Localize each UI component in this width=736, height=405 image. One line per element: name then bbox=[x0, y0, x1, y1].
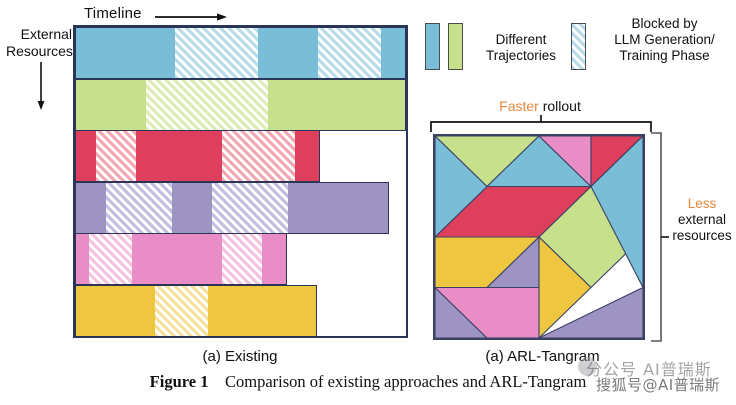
tangram-svg bbox=[435, 136, 643, 338]
legend: Different Trajectories Blocked by LLM Ge… bbox=[425, 10, 736, 82]
figure-caption-text: Comparison of existing approaches and AR… bbox=[225, 372, 586, 391]
figure-caption-label: Figure 1 bbox=[150, 372, 209, 391]
blocked-segment-6-2 bbox=[155, 286, 208, 336]
external-resources-line1: External bbox=[6, 26, 72, 43]
blocked-segment-4-4 bbox=[212, 183, 288, 233]
blocked-segment-1-4 bbox=[318, 28, 381, 78]
legend-swatch-blocked bbox=[571, 23, 586, 70]
legend-traj-line1: Different bbox=[473, 32, 569, 48]
tangram-diagram bbox=[433, 134, 645, 340]
blocked-segment-3-2 bbox=[96, 131, 136, 181]
figure-root: Timeline External Resources Different Tr… bbox=[0, 0, 736, 405]
less-rest-line2: resources bbox=[668, 228, 736, 244]
external-resources-line2: Resources bbox=[6, 43, 72, 60]
legend-blocked-line1: Blocked by bbox=[593, 16, 736, 32]
figure-caption: Figure 1 Comparison of existing approach… bbox=[0, 372, 736, 392]
blocked-segment-1-2 bbox=[175, 28, 258, 78]
timeline-bar-3 bbox=[75, 130, 320, 182]
top-bracket-icon bbox=[428, 115, 654, 133]
subcaption-tangram: (a) ARL-Tangram bbox=[450, 348, 635, 365]
timeline-bar-4 bbox=[75, 182, 389, 234]
legend-blocked-line2: LLM Generation/ bbox=[593, 32, 736, 48]
timeline-chart bbox=[73, 25, 408, 338]
less-rest-line1: external bbox=[668, 212, 736, 228]
legend-traj-line2: Trajectories bbox=[473, 48, 569, 64]
resources-arrow-icon bbox=[36, 62, 46, 110]
timeline-bar-5 bbox=[75, 233, 287, 285]
blocked-segment-2-2 bbox=[146, 80, 268, 130]
faster-rollout-label: Faster rollout bbox=[440, 98, 640, 114]
legend-swatch-green bbox=[448, 23, 463, 70]
blocked-segment-5-4 bbox=[222, 234, 262, 284]
blocked-segment-5-2 bbox=[89, 234, 132, 284]
timeline-arrow-icon bbox=[155, 12, 227, 22]
timeline-bar-2 bbox=[75, 79, 406, 131]
legend-blocked-line3: Training Phase bbox=[593, 48, 736, 64]
subcaption-existing: (a) Existing bbox=[150, 348, 330, 365]
external-resources-label: External Resources bbox=[6, 26, 72, 60]
faster-rest-text: rollout bbox=[543, 98, 581, 114]
blocked-segment-3-4 bbox=[222, 131, 295, 181]
blocked-segment-4-2 bbox=[106, 183, 172, 233]
legend-label-trajectories: Different Trajectories bbox=[473, 32, 569, 64]
right-bracket-icon bbox=[648, 130, 670, 344]
less-external-resources-label: Less external resources bbox=[668, 196, 736, 244]
faster-accent-text: Faster bbox=[499, 98, 539, 114]
timeline-bar-6 bbox=[75, 285, 317, 337]
timeline-bar-1 bbox=[75, 27, 406, 79]
timeline-label: Timeline bbox=[84, 5, 142, 22]
less-accent-text: Less bbox=[668, 196, 736, 212]
legend-label-blocked: Blocked by LLM Generation/ Training Phas… bbox=[593, 16, 736, 64]
legend-swatch-blue bbox=[425, 23, 440, 70]
